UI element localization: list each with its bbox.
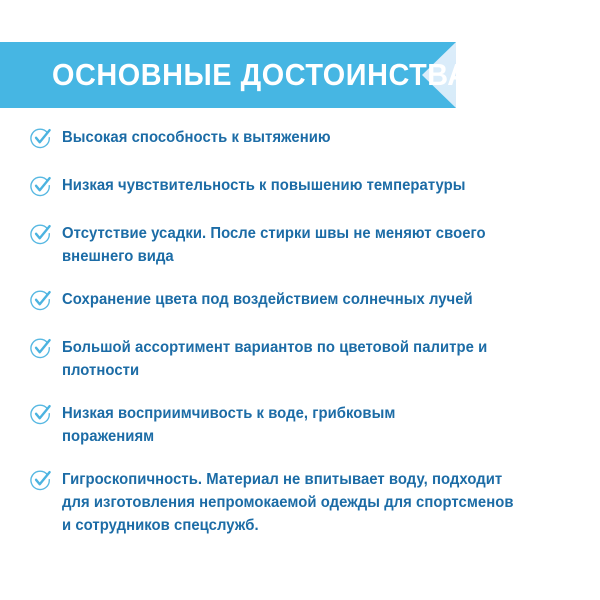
- list-item: Сохранение цвета под воздействием солнеч…: [0, 288, 600, 316]
- header-ribbon: ОСНОВНЫЕ ДОСТОИНСТВА: [0, 42, 456, 108]
- benefits-list: Высокая способность к вытяжению Низкая ч…: [0, 126, 600, 537]
- check-circle-icon: [30, 289, 52, 311]
- list-item-label: Гигроскопичность. Материал не впитывает …: [62, 468, 568, 537]
- list-item-label: Большой ассортимент вариантов по цветово…: [62, 336, 568, 382]
- list-item-label: Низкая чувствительность к повышению темп…: [62, 174, 568, 197]
- list-item-label: Отсутствие усадки. После стирки швы не м…: [62, 222, 568, 268]
- list-item: Отсутствие усадки. После стирки швы не м…: [0, 222, 600, 268]
- list-item-label: Сохранение цвета под воздействием солнеч…: [62, 288, 568, 311]
- check-circle-icon: [30, 403, 52, 425]
- check-circle-icon: [30, 127, 52, 149]
- list-item: Низкая восприимчивость к воде, грибковым…: [0, 402, 600, 448]
- infographic-poster: ОСНОВНЫЕ ДОСТОИНСТВА Высокая способность…: [0, 0, 600, 600]
- check-circle-icon: [30, 337, 52, 359]
- list-item: Гигроскопичность. Материал не впитывает …: [0, 468, 600, 537]
- check-circle-icon: [30, 175, 52, 197]
- list-item-label: Высокая способность к вытяжению: [62, 126, 568, 149]
- list-item-label: Низкая восприимчивость к воде, грибковым…: [62, 402, 568, 448]
- list-item: Низкая чувствительность к повышению темп…: [0, 174, 600, 202]
- list-item: Высокая способность к вытяжению: [0, 126, 600, 154]
- list-item: Большой ассортимент вариантов по цветово…: [0, 336, 600, 382]
- check-circle-icon: [30, 469, 52, 491]
- page-title: ОСНОВНЫЕ ДОСТОИНСТВА: [52, 42, 469, 108]
- check-circle-icon: [30, 223, 52, 245]
